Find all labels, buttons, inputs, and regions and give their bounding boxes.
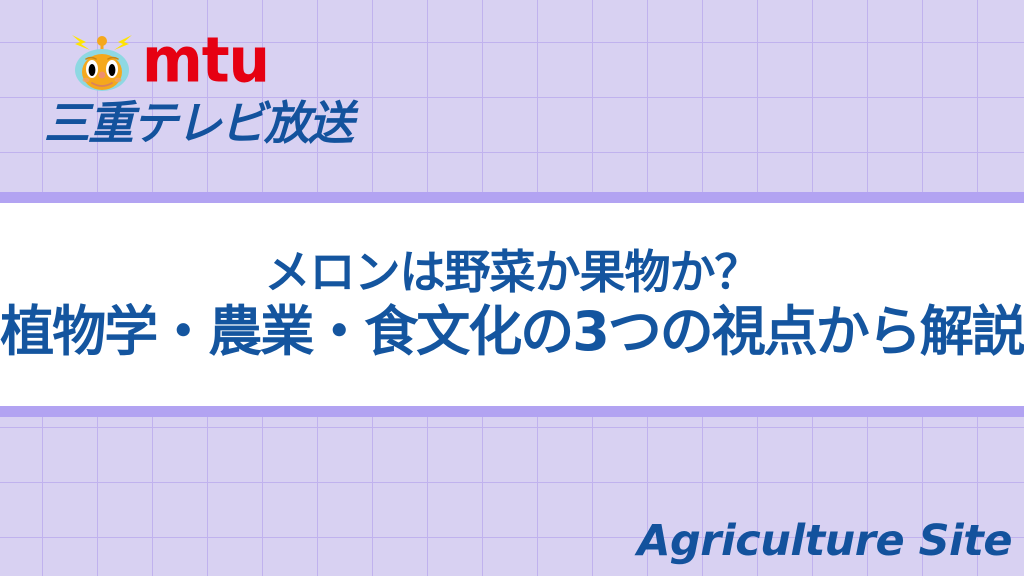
title-line-2: 植物学・農業・食文化の3つの視点から解説 <box>0 302 1024 362</box>
bee-mascot-icon <box>66 28 138 94</box>
logo-mark-row: mtu <box>66 28 260 94</box>
title-line-1: メロンは野菜か果物か？ <box>265 247 760 299</box>
page-title: メロンは野菜か果物か？ 植物学・農業・食文化の3つの視点から解説 <box>0 203 1024 406</box>
station-logo: mtu 三重テレビ放送 <box>22 14 442 154</box>
mtu-wordmark: mtu <box>142 30 269 92</box>
thumbnail-canvas: mtu 三重テレビ放送 メロンは野菜か果物か？ 植物学・農業・食文化の3つの視点… <box>0 0 1024 576</box>
band-top-rule <box>0 192 1024 203</box>
site-name-label: Agriculture Site <box>637 516 1012 568</box>
band-bottom-rule <box>0 406 1024 417</box>
station-name-text: 三重テレビ放送 <box>44 100 352 146</box>
